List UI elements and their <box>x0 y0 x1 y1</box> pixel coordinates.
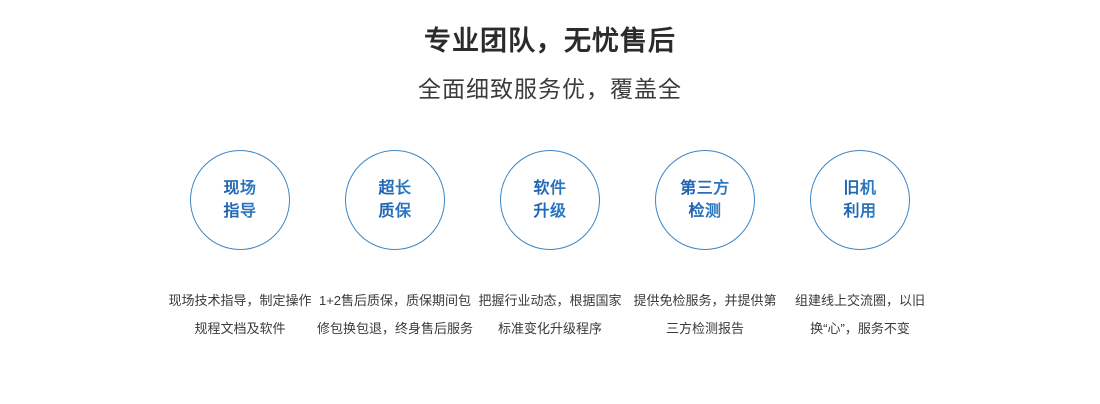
feature-description-old-machine-reuse: 组建线上交流圈，以旧 换“心”，服务不变 <box>780 287 940 343</box>
feature-description-onsite-guidance: 现场技术指导，制定操作 规程文档及软件 <box>160 287 320 343</box>
feature-description-line2: 换“心”，服务不变 <box>780 315 940 343</box>
feature-description-line1: 1+2售后质保，质保期间包 <box>315 287 475 315</box>
feature-circle-label-line2: 指导 <box>223 200 256 223</box>
feature-description-line2: 规程文档及软件 <box>160 315 320 343</box>
feature-description-line2: 修包换包退，终身售后服务 <box>315 315 475 343</box>
feature-circle-label-line1: 旧机 <box>843 177 876 200</box>
feature-card-extended-warranty: 超长 质保 1+2售后质保，质保期间包 修包换包退，终身售后服务 <box>318 150 473 343</box>
feature-description-line1: 组建线上交流圈，以旧 <box>780 287 940 315</box>
page-title: 专业团队，无忧售后 <box>0 24 1100 58</box>
feature-circle-third-party-inspection: 第三方 检测 <box>655 150 755 250</box>
page-subtitle: 全面细致服务优，覆盖全 <box>0 74 1100 104</box>
feature-description-extended-warranty: 1+2售后质保，质保期间包 修包换包退，终身售后服务 <box>315 287 475 343</box>
service-feature-section: 专业团队，无忧售后 全面细致服务优，覆盖全 现场 指导 现场技术指导，制定操作 … <box>0 0 1100 404</box>
feature-circle-extended-warranty: 超长 质保 <box>345 150 445 250</box>
section-header: 专业团队，无忧售后 全面细致服务优，覆盖全 <box>0 0 1100 104</box>
feature-circle-label-line2: 升级 <box>533 200 566 223</box>
feature-circle-old-machine-reuse: 旧机 利用 <box>810 150 910 250</box>
feature-card-list: 现场 指导 现场技术指导，制定操作 规程文档及软件 超长 质保 1+2售后质保，… <box>0 150 1100 343</box>
feature-description-line2: 标准变化升级程序 <box>470 315 630 343</box>
feature-circle-label-line1: 软件 <box>533 177 566 200</box>
feature-circle-label-line1: 第三方 <box>680 177 730 200</box>
feature-description-line1: 提供免检服务，并提供第 <box>625 287 785 315</box>
feature-card-software-upgrade: 软件 升级 把握行业动态，根据国家 标准变化升级程序 <box>473 150 628 343</box>
feature-description-line1: 把握行业动态，根据国家 <box>470 287 630 315</box>
feature-description-software-upgrade: 把握行业动态，根据国家 标准变化升级程序 <box>470 287 630 343</box>
feature-description-line2: 三方检测报告 <box>625 315 785 343</box>
feature-circle-label-line2: 质保 <box>378 200 411 223</box>
feature-card-onsite-guidance: 现场 指导 现场技术指导，制定操作 规程文档及软件 <box>163 150 318 343</box>
feature-circle-label-line2: 检测 <box>688 200 721 223</box>
feature-card-old-machine-reuse: 旧机 利用 组建线上交流圈，以旧 换“心”，服务不变 <box>783 150 938 343</box>
feature-circle-software-upgrade: 软件 升级 <box>500 150 600 250</box>
feature-circle-label-line1: 超长 <box>378 177 411 200</box>
feature-description-third-party-inspection: 提供免检服务，并提供第 三方检测报告 <box>625 287 785 343</box>
feature-circle-label-line2: 利用 <box>843 200 876 223</box>
feature-description-line1: 现场技术指导，制定操作 <box>160 287 320 315</box>
feature-circle-onsite-guidance: 现场 指导 <box>190 150 290 250</box>
feature-circle-label-line1: 现场 <box>223 177 256 200</box>
feature-card-third-party-inspection: 第三方 检测 提供免检服务，并提供第 三方检测报告 <box>628 150 783 343</box>
